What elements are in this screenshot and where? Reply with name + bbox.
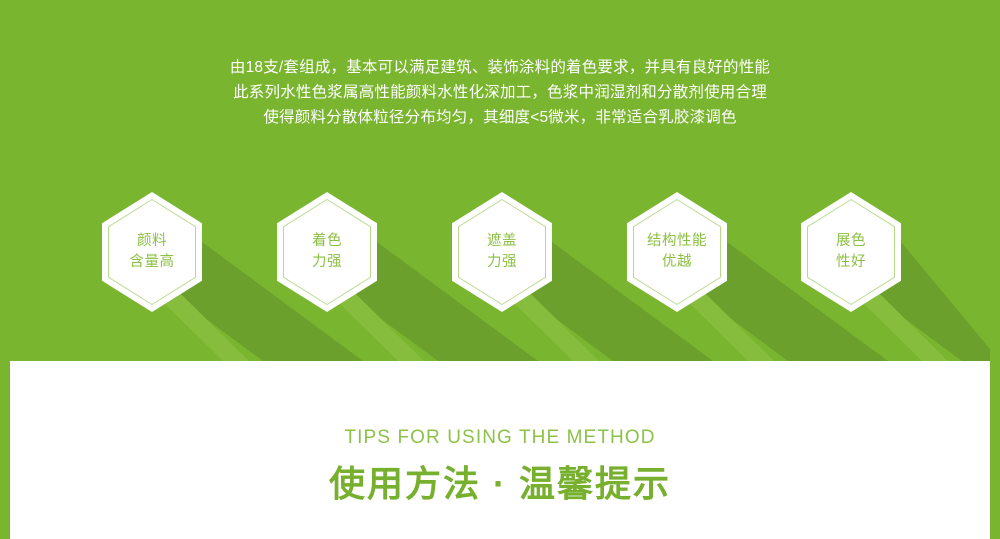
tips-chinese-title: 使用方法 · 温馨提示 (0, 455, 1000, 507)
feature-hexagon-1[interactable]: 颜料 含量高 (102, 192, 202, 312)
feature-1-line-1: 颜料 (137, 231, 167, 252)
feature-hexagon-4-label: 结构性能 优越 (627, 192, 727, 312)
tips-section: TIPS FOR USING THE METHOD 使用方法 · 温馨提示 (0, 361, 1000, 539)
feature-4-line-1: 结构性能 (647, 231, 707, 252)
feature-hexagon-4[interactable]: 结构性能 优越 (627, 192, 727, 312)
tips-english-subtitle: TIPS FOR USING THE METHOD (0, 427, 1000, 449)
feature-4-line-2: 优越 (662, 252, 692, 273)
feature-hexagon-5-label: 展色 性好 (801, 192, 901, 312)
feature-3-line-1: 遮盖 (487, 231, 517, 252)
feature-hexagon-2[interactable]: 着色 力强 (277, 192, 377, 312)
feature-hexagon-3-label: 遮盖 力强 (452, 192, 552, 312)
feature-hexagon-1-label: 颜料 含量高 (102, 192, 202, 312)
feature-hexagon-5[interactable]: 展色 性好 (801, 192, 901, 312)
feature-1-line-2: 含量高 (130, 252, 175, 273)
feature-3-line-2: 力强 (487, 252, 517, 273)
page-root: 由18支/套组成，基本可以满足建筑、装饰涂料的着色要求，并具有良好的性能 此系列… (0, 0, 1000, 539)
feature-5-line-2: 性好 (836, 252, 866, 273)
feature-hexagon-2-label: 着色 力强 (277, 192, 377, 312)
feature-hexagon-row: 颜料 含量高 着色 力强 遮盖 力强 (0, 192, 1000, 317)
left-edge-strip (0, 0, 10, 539)
feature-5-line-1: 展色 (836, 231, 866, 252)
intro-paragraph: 由18支/套组成，基本可以满足建筑、装饰涂料的着色要求，并具有良好的性能 此系列… (0, 55, 1000, 130)
hero-section: 由18支/套组成，基本可以满足建筑、装饰涂料的着色要求，并具有良好的性能 此系列… (0, 0, 1000, 361)
feature-2-line-2: 力强 (312, 252, 342, 273)
intro-line-1: 由18支/套组成，基本可以满足建筑、装饰涂料的着色要求，并具有良好的性能 (0, 55, 1000, 80)
intro-line-2: 此系列水性色浆属高性能颜料水性化深加工，色浆中润湿剂和分散剂使用合理 (0, 80, 1000, 105)
intro-line-3: 使得颜料分散体粒径分布均匀，其细度<5微米，非常适合乳胶漆调色 (0, 105, 1000, 130)
feature-2-line-1: 着色 (312, 231, 342, 252)
right-edge-strip (990, 0, 1000, 539)
feature-hexagon-3[interactable]: 遮盖 力强 (452, 192, 552, 312)
